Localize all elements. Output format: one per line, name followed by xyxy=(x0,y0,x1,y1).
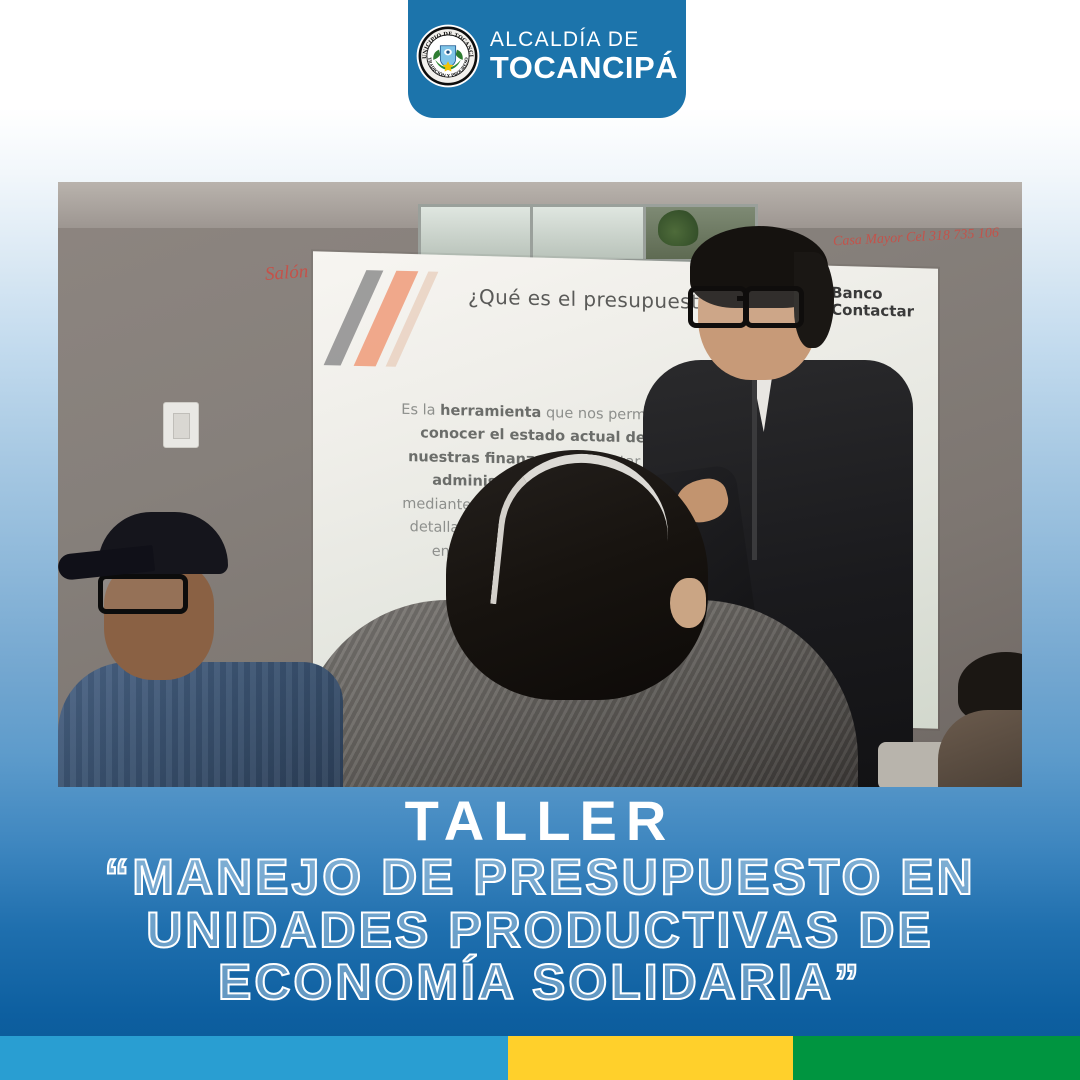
title-block: TALLER “MANEJO DE PRESUPUESTO ENUNIDADES… xyxy=(0,792,1080,1009)
page-title-subtitle-line: ECONOMÍA SOLIDARIA” xyxy=(0,956,1080,1009)
event-photo: Salón 1 Casa Mayor Cel 318 735 106 ¿Qué … xyxy=(58,182,1022,787)
slide-accent-stripes xyxy=(341,270,461,369)
tocancipa-municipal-crest-icon: MUNICIPIO DE TOCANCIPÁ TRADICIÓN Y PROGR… xyxy=(416,24,480,88)
brand-line-tocancipa: TOCANCIPÁ xyxy=(490,52,678,83)
window-pane xyxy=(533,207,645,259)
page-title-subtitle-line: “MANEJO DE PRESUPUESTO EN xyxy=(0,851,1080,904)
man-glasses xyxy=(98,574,188,614)
bottom-bar-segment-blue xyxy=(0,1036,508,1080)
bottom-bar-segment-green xyxy=(793,1036,1080,1080)
plant xyxy=(658,210,700,246)
slide-title: ¿Qué es el presupuesto? xyxy=(468,284,723,314)
brand-text: ALCALDÍA DE TOCANCIPÁ xyxy=(490,29,678,83)
page-title-kicker: TALLER xyxy=(0,792,1080,849)
page-title-subtitle-line: UNIDADES PRODUCTIVAS DE xyxy=(0,904,1080,957)
presenter-glasses xyxy=(688,286,810,320)
poster-canvas: MUNICIPIO DE TOCANCIPÁ TRADICIÓN Y PROGR… xyxy=(0,0,1080,1080)
woman-ear xyxy=(670,578,706,628)
light-switch xyxy=(163,402,199,448)
attendee-foreground-woman xyxy=(298,450,858,787)
header-banner: MUNICIPIO DE TOCANCIPÁ TRADICIÓN Y PROGR… xyxy=(408,0,686,118)
window-pane xyxy=(421,207,533,259)
attendee-foreground-man xyxy=(58,512,343,787)
page-title-subtitle: “MANEJO DE PRESUPUESTO ENUNIDADES PRODUC… xyxy=(0,851,1080,1009)
banco-line2: Contactar xyxy=(831,300,914,320)
bottom-bar-segment-yellow xyxy=(508,1036,793,1080)
attendee-right xyxy=(938,652,1022,787)
brand-line-alcaldia: ALCALDÍA DE xyxy=(490,29,678,50)
bottom-color-bar xyxy=(0,1036,1080,1080)
denim-jacket xyxy=(58,662,343,787)
banco-contactar-wordmark: Banco Contactar xyxy=(831,285,914,320)
